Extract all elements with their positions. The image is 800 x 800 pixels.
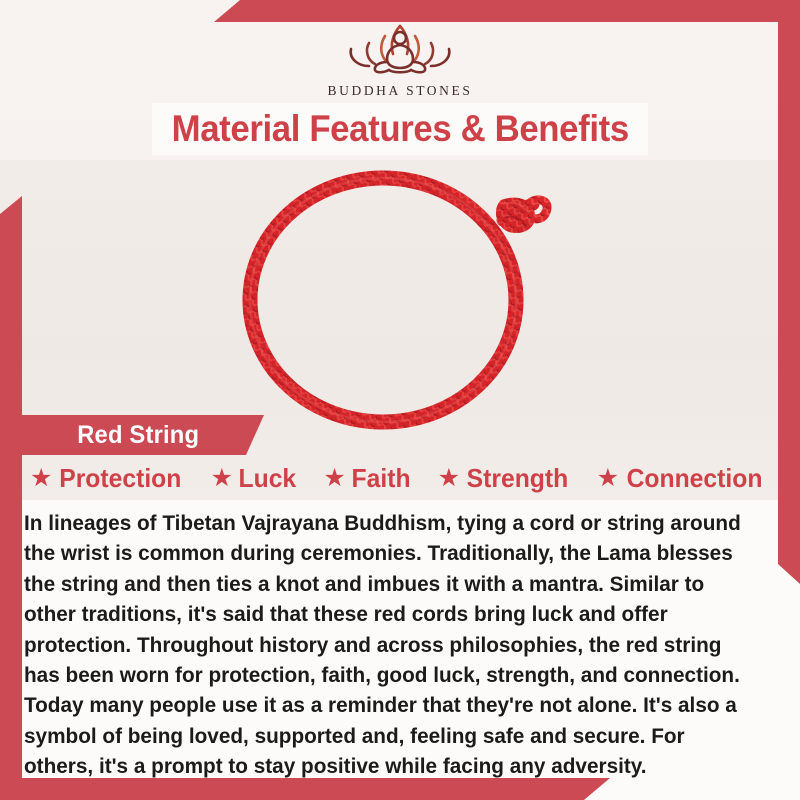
- lotus-meditation-icon: [0, 16, 800, 80]
- page-title: Material Features & Benefits: [171, 108, 628, 150]
- benefit-item-faith: ★ Faith: [323, 463, 412, 494]
- benefit-label: Faith: [351, 463, 410, 494]
- product-name-ribbon: Red String: [18, 415, 264, 455]
- star-icon: ★: [30, 466, 52, 491]
- product-image-red-string-bracelet: [215, 160, 585, 440]
- benefit-item-connection: ★ Connection: [597, 463, 766, 494]
- brand-wordmark: BUDDHA STONES: [0, 83, 800, 99]
- benefits-list: ★ Protection ★ Luck ★ Faith ★ Strength ★…: [30, 463, 770, 494]
- benefit-item-protection: ★ Protection: [30, 463, 185, 494]
- star-icon: ★: [438, 466, 460, 491]
- brand-logo: BUDDHA STONES: [0, 16, 800, 99]
- description-block: In lineages of Tibetan Vajrayana Buddhis…: [24, 508, 776, 782]
- infographic-poster: BUDDHA STONES Material Features & Benefi…: [0, 0, 800, 800]
- description-text: In lineages of Tibetan Vajrayana Buddhis…: [24, 508, 753, 782]
- product-name-label: Red String: [77, 421, 199, 450]
- star-icon: ★: [211, 466, 233, 491]
- star-icon: ★: [597, 466, 619, 491]
- benefit-label: Strength: [467, 463, 569, 494]
- benefit-label: Protection: [60, 463, 182, 494]
- left-red-bar: [0, 196, 22, 800]
- benefit-item-luck: ★ Luck: [211, 463, 298, 494]
- benefit-label: Connection: [627, 463, 763, 494]
- title-banner: Material Features & Benefits: [152, 103, 648, 155]
- benefit-item-strength: ★ Strength: [438, 463, 571, 494]
- star-icon: ★: [323, 466, 345, 491]
- benefit-label: Luck: [239, 463, 297, 494]
